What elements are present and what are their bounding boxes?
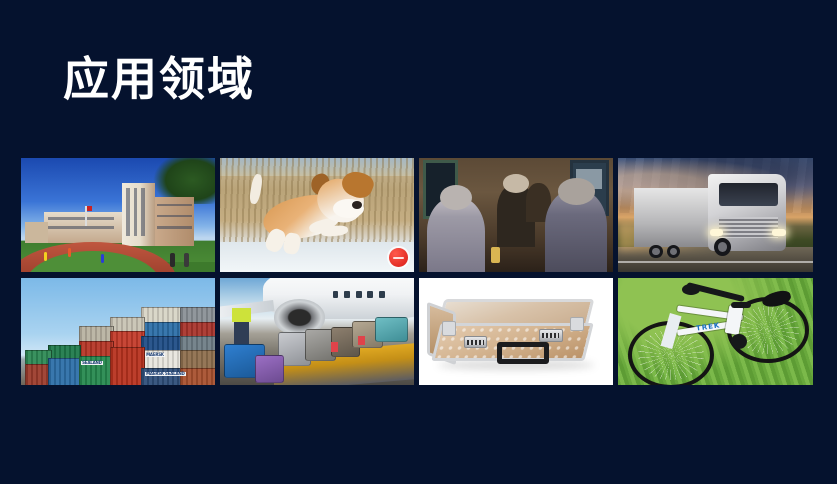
gallery-item-airport-baggage[interactable]: Suitcases on a conveyor belt being loade… (220, 278, 414, 385)
container-label: MAERSK SEALAND (145, 372, 185, 376)
airplane-window (379, 291, 385, 298)
campus-photo (21, 158, 215, 272)
gallery-item-freight-truck[interactable]: White semi-trailer truck driving on a hi… (618, 158, 813, 272)
campus-person (44, 252, 47, 261)
airplane-window (356, 291, 362, 298)
baggage-tag (331, 342, 339, 352)
gallery-item-mountain-bike[interactable]: TREK White mountain bicycle resting on g… (618, 278, 813, 385)
truck-wheel (714, 238, 732, 256)
container-label: SEALAND (81, 361, 103, 365)
elderly-cup (491, 247, 501, 263)
airplane-window (333, 291, 339, 298)
campus-window (157, 204, 192, 206)
truck-lane-marking (618, 261, 813, 263)
page-title-wrap: 应用领域 (63, 53, 255, 106)
aluminum-case-photo (419, 278, 613, 385)
campus-window (126, 188, 130, 236)
dog-snow (220, 242, 414, 272)
campus-window (157, 226, 192, 228)
gallery-item-campus[interactable]: School campus with running track and tea… (21, 158, 215, 272)
campus-window (157, 215, 192, 217)
campus-window (48, 226, 114, 228)
combination-lock (464, 336, 487, 349)
pet-dog-photo (220, 158, 414, 272)
truck-headlight (710, 229, 724, 236)
airplane-window (367, 291, 373, 298)
elderly-person-right (545, 190, 607, 272)
truck-windshield (719, 183, 778, 206)
campus-building-far (25, 222, 48, 244)
gallery-item-aluminum-case[interactable]: Aluminium briefcase with combination loc… (419, 278, 613, 385)
dog-nose (352, 201, 362, 209)
campus-window (48, 217, 114, 219)
campus-person (170, 253, 175, 267)
page-title: 应用领域 (63, 53, 255, 106)
campus-flag (87, 206, 92, 211)
baggage-tag (358, 336, 366, 346)
case-handle (497, 342, 550, 364)
bike-crankset (731, 334, 747, 349)
campus-window (141, 188, 145, 236)
truck-trailer (634, 188, 720, 247)
freight-truck-photo (618, 158, 813, 272)
suitcase (375, 317, 408, 343)
container-label: MAERSK (145, 353, 165, 357)
gallery-item-shipping-containers[interactable]: MAERSK MAERSK SEALAND SEALAND Stacked sh… (21, 278, 215, 385)
case-corner-guard (442, 321, 456, 336)
bike-brake-lever (682, 284, 700, 295)
suitcase (255, 355, 284, 383)
application-gallery: School campus with running track and tea… (21, 158, 815, 385)
campus-person (68, 248, 71, 257)
bike-spokes (737, 306, 799, 355)
container (110, 347, 145, 385)
shipping-containers-photo: MAERSK MAERSK SEALAND SEALAND (21, 278, 215, 385)
truck-wheel (649, 245, 663, 259)
case-corner-guard (570, 317, 584, 332)
campus-person (101, 254, 104, 263)
container-stack: MAERSK MAERSK SEALAND SEALAND (21, 306, 215, 385)
combination-lock (539, 329, 562, 342)
truck-headlight (772, 229, 786, 236)
airplane-window (344, 291, 350, 298)
airport-baggage-photo (220, 278, 414, 385)
gallery-item-elderly-care[interactable]: Elderly people seated together indoors (419, 158, 613, 272)
mountain-bike-photo: TREK (618, 278, 813, 385)
truck-grille (719, 217, 778, 238)
campus-person (184, 253, 189, 267)
gallery-item-pet-dog[interactable]: Beagle dog leaping across a snowy field (220, 158, 414, 272)
elderly-care-photo (419, 158, 613, 272)
campus-window (134, 188, 138, 236)
bike-grip (731, 302, 751, 308)
bike-frame-logo: TREK (696, 321, 721, 332)
slide-root: 应用领域 (0, 0, 837, 484)
elderly-person-left (427, 197, 485, 272)
container (48, 358, 81, 385)
red-ball-logo-icon (389, 248, 408, 267)
